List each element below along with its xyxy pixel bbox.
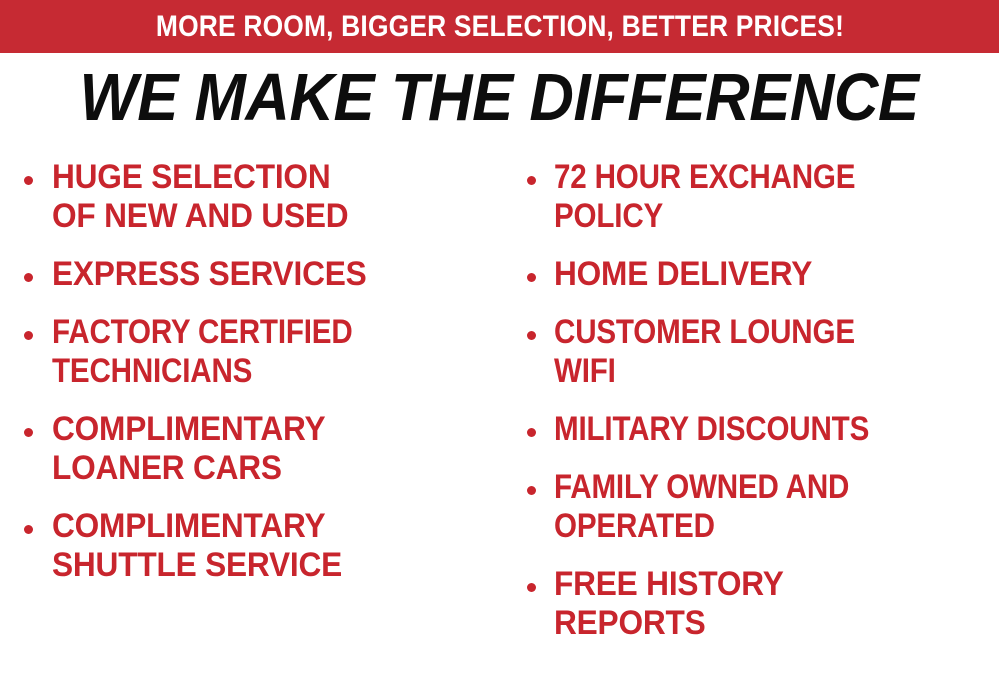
- bullet-dot-icon: [24, 428, 33, 437]
- bullet-dot-icon: [24, 331, 33, 340]
- bullet-dot-icon: [527, 428, 536, 437]
- list-item-label: 72 HOUR EXCHANGE POLICY: [554, 158, 941, 236]
- list-item-label: CUSTOMER LOUNGE WIFI: [554, 313, 941, 391]
- bullet-dot-icon: [527, 583, 536, 592]
- list-item: COMPLIMENTARY SHUTTLE SERVICE: [10, 507, 510, 585]
- bullet-dot-icon: [527, 273, 536, 282]
- benefits-column-right: 72 HOUR EXCHANGE POLICY HOME DELIVERY CU…: [512, 158, 999, 662]
- list-item: EXPRESS SERVICES: [10, 255, 510, 294]
- list-item: FAMILY OWNED AND OPERATED: [512, 468, 999, 546]
- benefits-columns: HUGE SELECTION OF NEW AND USED EXPRESS S…: [0, 158, 999, 692]
- bullet-dot-icon: [527, 486, 536, 495]
- bullet-dot-icon: [24, 525, 33, 534]
- list-item: HUGE SELECTION OF NEW AND USED: [10, 158, 510, 236]
- benefits-column-left: HUGE SELECTION OF NEW AND USED EXPRESS S…: [10, 158, 510, 604]
- list-item: MILITARY DISCOUNTS: [512, 410, 999, 449]
- list-item: COMPLIMENTARY LOANER CARS: [10, 410, 510, 488]
- list-item-label: COMPLIMENTARY LOANER CARS: [52, 410, 478, 488]
- list-item-label: FACTORY CERTIFIED TECHNICIANS: [52, 313, 450, 391]
- list-item-label: EXPRESS SERVICES: [52, 255, 478, 294]
- list-item-label: COMPLIMENTARY SHUTTLE SERVICE: [52, 507, 478, 585]
- list-item-label: HUGE SELECTION OF NEW AND USED: [52, 158, 478, 236]
- bullet-dot-icon: [527, 331, 536, 340]
- banner-headline-text: MORE ROOM, BIGGER SELECTION, BETTER PRIC…: [155, 12, 843, 42]
- list-item: FACTORY CERTIFIED TECHNICIANS: [10, 313, 510, 391]
- main-headline: WE MAKE THE DIFFERENCE: [0, 62, 999, 134]
- list-item: 72 HOUR EXCHANGE POLICY: [512, 158, 999, 236]
- list-item: CUSTOMER LOUNGE WIFI: [512, 313, 999, 391]
- bullet-dot-icon: [24, 176, 33, 185]
- top-banner: MORE ROOM, BIGGER SELECTION, BETTER PRIC…: [0, 0, 999, 53]
- list-item-label: FREE HISTORY REPORTS: [554, 565, 968, 643]
- headline-text: WE MAKE THE DIFFERENCE: [80, 62, 919, 134]
- list-item-label: FAMILY OWNED AND OPERATED: [554, 468, 941, 546]
- list-item-label: MILITARY DISCOUNTS: [554, 410, 941, 449]
- list-item: HOME DELIVERY: [512, 255, 999, 294]
- bullet-dot-icon: [527, 176, 536, 185]
- promotional-poster: MORE ROOM, BIGGER SELECTION, BETTER PRIC…: [0, 0, 999, 692]
- list-item-label: HOME DELIVERY: [554, 255, 968, 294]
- bullet-dot-icon: [24, 273, 33, 282]
- list-item: FREE HISTORY REPORTS: [512, 565, 999, 643]
